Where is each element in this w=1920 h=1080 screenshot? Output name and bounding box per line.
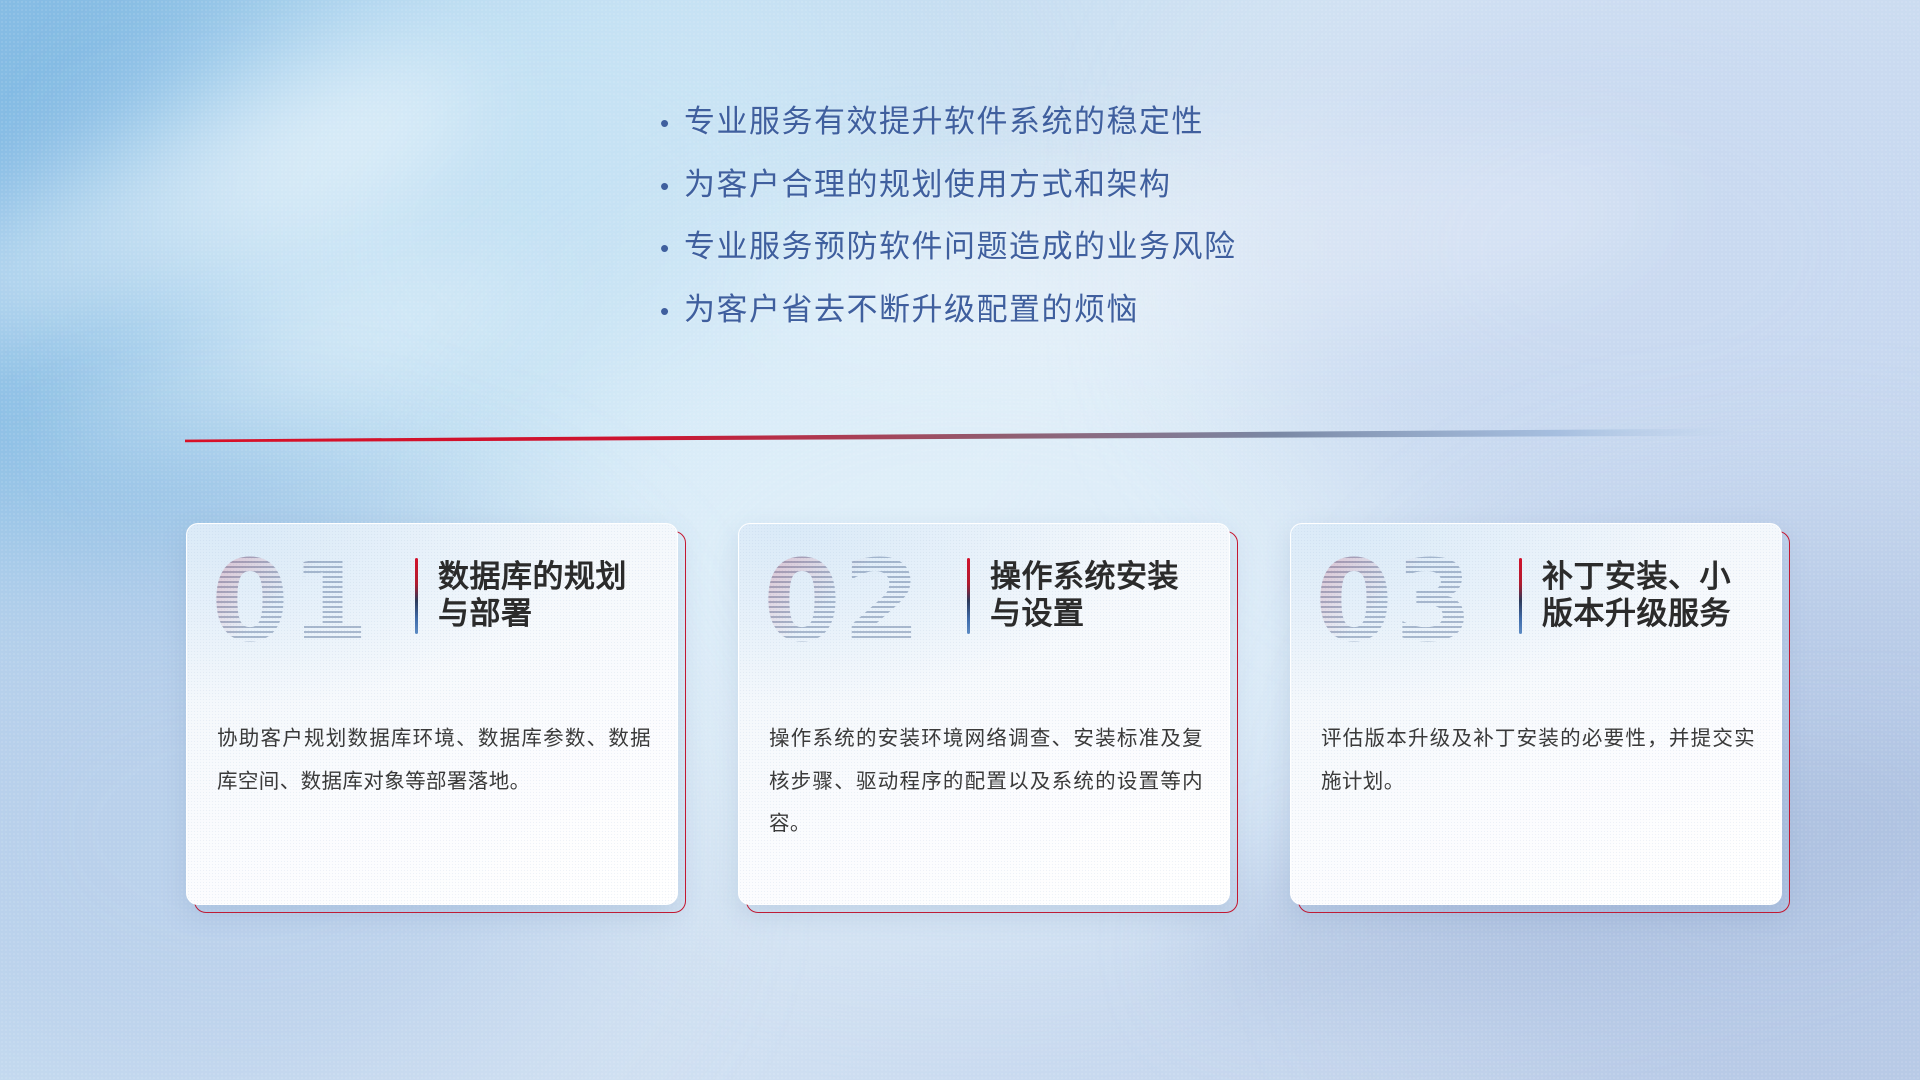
service-card-02[interactable]: 02 02 操作系统安装与设置 操作系统的安装环境网络调查、安装标准及复核步骤、… [738, 523, 1230, 909]
section-divider [185, 428, 1745, 446]
card-accent-bar [1519, 558, 1522, 634]
card-number-watermark-tint: 01 [211, 546, 371, 658]
card-header: 操作系统安装与设置 [967, 558, 1207, 634]
divider-wedge-icon [185, 428, 1745, 446]
card-surface: 03 03 补丁安装、小版本升级服务 评估版本升级及补丁安装的必要性，并提交实施… [1290, 523, 1782, 905]
card-description: 协助客户规划数据库环境、数据库参数、数据库空间、数据库对象等部署落地。 [217, 718, 651, 803]
card-accent-bar [967, 558, 970, 634]
background-glow-top-left [0, 0, 640, 580]
card-surface: 02 02 操作系统安装与设置 操作系统的安装环境网络调查、安装标准及复核步骤、… [738, 523, 1230, 905]
card-number-watermark: 01 [211, 546, 371, 658]
background-light-streak [0, 6, 509, 405]
service-card-03[interactable]: 03 03 补丁安装、小版本升级服务 评估版本升级及补丁安装的必要性，并提交实施… [1290, 523, 1782, 909]
card-title: 数据库的规划与部署 [438, 558, 655, 634]
card-header: 数据库的规划与部署 [415, 558, 655, 634]
card-number-watermark-tint: 02 [763, 546, 923, 658]
card-accent-bar [415, 558, 418, 634]
list-item: • 为客户合理的规划使用方式和架构 [660, 167, 1420, 204]
list-item: • 专业服务有效提升软件系统的稳定性 [660, 104, 1420, 141]
bullet-text: 为客户合理的规划使用方式和架构 [684, 167, 1172, 204]
bullet-text: 为客户省去不断升级配置的烦恼 [684, 292, 1139, 329]
bullet-marker-icon: • [660, 173, 684, 199]
card-description: 操作系统的安装环境网络调查、安装标准及复核步骤、驱动程序的配置以及系统的设置等内… [769, 718, 1203, 846]
benefits-bullet-list: • 专业服务有效提升软件系统的稳定性 • 为客户合理的规划使用方式和架构 • 专… [660, 104, 1420, 354]
card-number-watermark: 02 [763, 546, 923, 658]
service-card-group: 01 01 数据库的规划与部署 协助客户规划数据库环境、数据库参数、数据库空间、… [186, 523, 1796, 913]
card-header: 补丁安装、小版本升级服务 [1519, 558, 1759, 634]
slide-canvas: • 专业服务有效提升软件系统的稳定性 • 为客户合理的规划使用方式和架构 • 专… [0, 0, 1920, 1080]
card-surface: 01 01 数据库的规划与部署 协助客户规划数据库环境、数据库参数、数据库空间、… [186, 523, 678, 905]
card-number-watermark: 03 [1315, 546, 1475, 658]
bullet-marker-icon: • [660, 235, 684, 261]
card-title: 操作系统安装与设置 [990, 558, 1207, 634]
service-card-01[interactable]: 01 01 数据库的规划与部署 协助客户规划数据库环境、数据库参数、数据库空间、… [186, 523, 678, 909]
list-item: • 为客户省去不断升级配置的烦恼 [660, 292, 1420, 329]
card-title: 补丁安装、小版本升级服务 [1542, 558, 1759, 634]
background-light-streak [24, 223, 556, 498]
card-description: 评估版本升级及补丁安装的必要性，并提交实施计划。 [1321, 718, 1755, 803]
list-item: • 专业服务预防软件问题造成的业务风险 [660, 229, 1420, 266]
bullet-text: 专业服务有效提升软件系统的稳定性 [684, 104, 1204, 141]
bullet-text: 专业服务预防软件问题造成的业务风险 [684, 229, 1237, 266]
card-number-watermark-tint: 03 [1315, 546, 1475, 658]
bullet-marker-icon: • [660, 298, 684, 324]
bullet-marker-icon: • [660, 110, 684, 136]
